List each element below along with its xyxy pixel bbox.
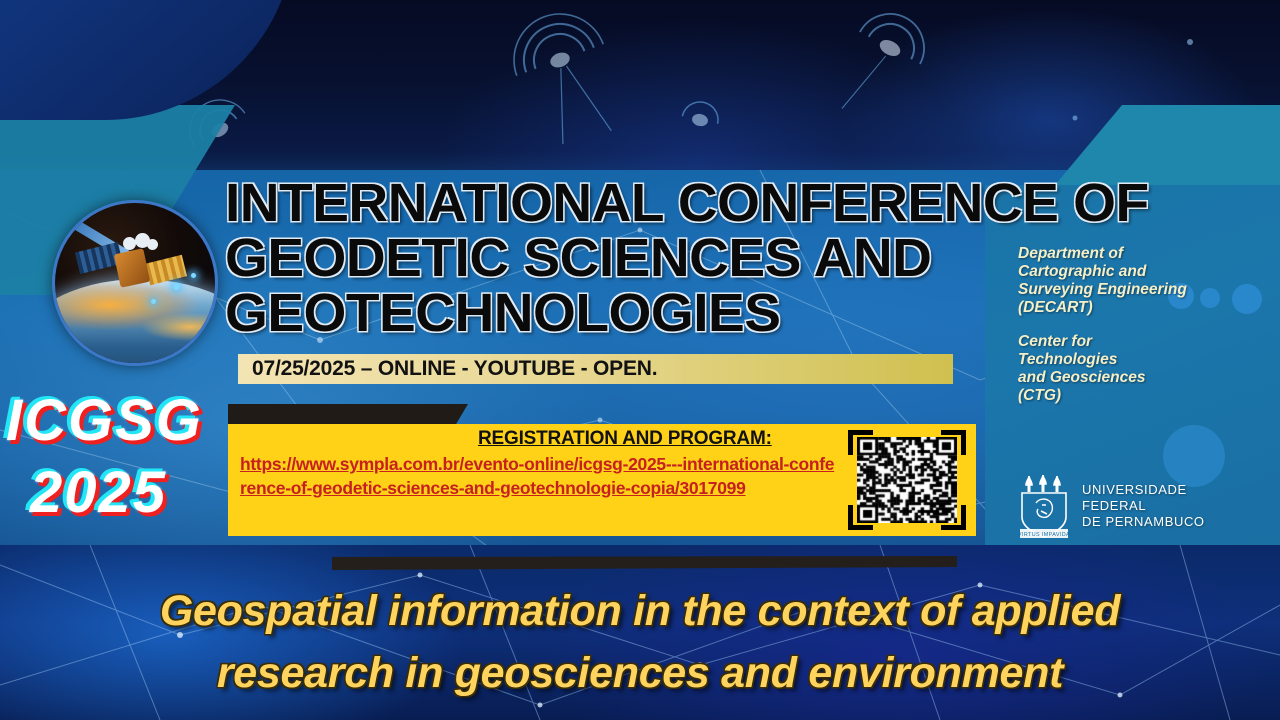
ufpe-shield-icon: VIRTUS IMPAVIDA (1016, 471, 1072, 541)
ufpe-line-1: UNIVERSIDADE (1082, 482, 1205, 498)
department-line-3: Surveying Engineering (1018, 281, 1248, 299)
signal-spark-icon (191, 273, 196, 278)
department-line-2: Cartographic and (1018, 263, 1248, 281)
event-date-bar: 07/25/2025 – ONLINE - YOUTUBE - OPEN. (238, 354, 953, 384)
ufpe-name: UNIVERSIDADE FEDERAL DE PERNAMBUCO (1082, 482, 1205, 530)
department-block: Department of Cartographic and Surveying… (1018, 245, 1248, 317)
icgsg-logo: ICGSG 2025 (6, 392, 231, 522)
registration-box: REGISTRATION AND PROGRAM: https://www.sy… (228, 424, 976, 536)
conference-poster: INTERNATIONAL CONFERENCE OF GEODETIC SCI… (0, 0, 1280, 720)
satellite-solar-panel-right (145, 255, 187, 286)
satellite-body (114, 248, 150, 287)
logo-line-1: ICGSG (6, 392, 231, 450)
center-block: Center for Technologies and Geosciences … (1018, 333, 1248, 405)
event-date-text: 07/25/2025 – ONLINE - YOUTUBE - OPEN. (238, 357, 657, 381)
qr-corner-top-left-icon (848, 430, 873, 455)
ufpe-motto-text: VIRTUS IMPAVIDA (1018, 532, 1070, 538)
center-line-3: and Geosciences (1018, 369, 1248, 387)
satellite-dish-icon (147, 239, 158, 250)
ufpe-logo: VIRTUS IMPAVIDA UNIVERSIDADE FEDERAL DE … (1016, 470, 1246, 542)
center-line-1: Center for (1018, 333, 1248, 351)
logo-line-2: 2025 (30, 464, 231, 522)
conference-tagline: Geospatial information in the context of… (0, 580, 1280, 704)
registration-link[interactable]: https://www.sympla.com.br/evento-online/… (240, 452, 840, 500)
signal-spark-icon (151, 299, 156, 304)
tagline-line-2: research in geosciences and environment (0, 642, 1280, 704)
tagline-line-1: Geospatial information in the context of… (0, 580, 1280, 642)
center-line-2: Technologies (1018, 351, 1248, 369)
department-line-4: (DECART) (1018, 299, 1248, 317)
qr-corner-bottom-right-icon (941, 505, 966, 530)
center-line-4: (CTG) (1018, 387, 1248, 405)
qr-corner-top-right-icon (941, 430, 966, 455)
qr-corner-bottom-left-icon (848, 505, 873, 530)
registration-heading: REGISTRATION AND PROGRAM: (478, 428, 772, 450)
ufpe-line-2: FEDERAL (1082, 498, 1205, 514)
sponsor-departments: Department of Cartographic and Surveying… (1018, 245, 1248, 405)
department-line-1: Department of (1018, 245, 1248, 263)
title-line-1: INTERNATIONAL CONFERENCE OF (225, 176, 1220, 231)
satellite-earth-image (52, 200, 218, 366)
earth-graphic (52, 279, 218, 366)
ufpe-line-3: DE PERNAMBUCO (1082, 514, 1205, 530)
qr-code[interactable] (848, 430, 966, 530)
signal-spark-icon (173, 283, 180, 290)
